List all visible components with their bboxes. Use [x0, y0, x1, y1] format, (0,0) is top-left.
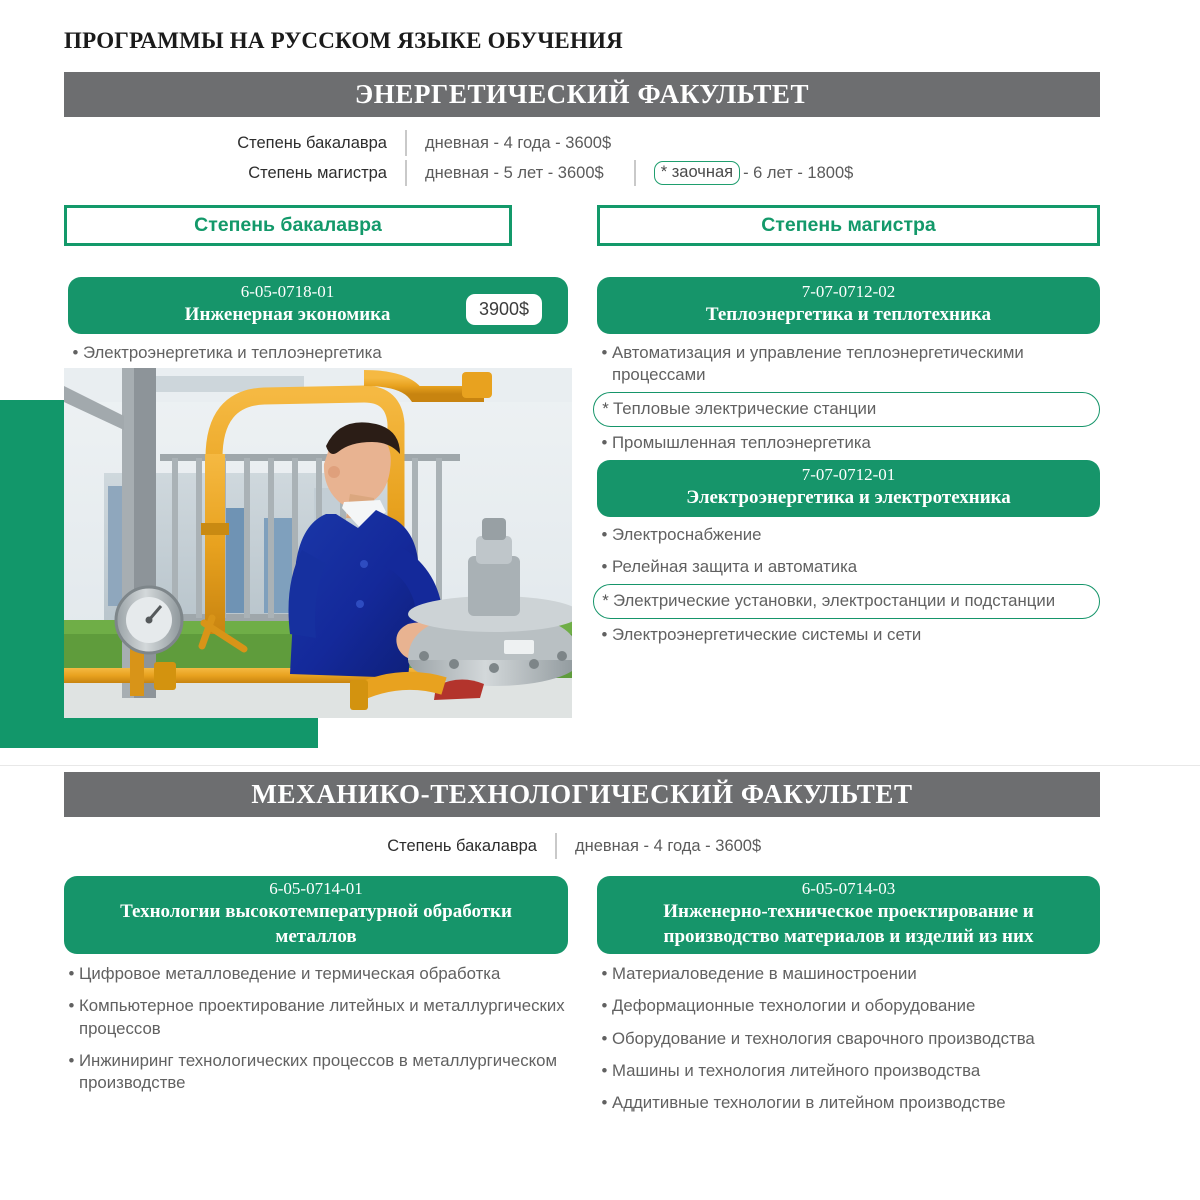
- list-item: • Материаловедение в машиностроении: [597, 958, 1100, 990]
- section-divider: [0, 765, 1200, 766]
- list-item: • Инжиниринг технологических процессов в…: [64, 1045, 584, 1100]
- bullet-icon: •: [597, 995, 612, 1017]
- degree-info-value: дневная - 4 года - 3600$: [407, 134, 611, 153]
- bullet-icon: •: [597, 556, 612, 578]
- program-specialization-list: • Электроэнергетика и теплоэнергетика: [68, 337, 573, 369]
- bullet-icon: •: [597, 1060, 612, 1082]
- list-item: • Автоматизация и управление теплоэнерге…: [597, 337, 1100, 392]
- list-item-label: Аддитивные технологии в литейном произво…: [612, 1092, 1100, 1114]
- bullet-icon: •: [597, 624, 612, 646]
- faculty-banner-mech-label: МЕХАНИКО-ТЕХНОЛОГИЧЕСКИЙ ФАКУЛЬТЕТ: [251, 779, 912, 810]
- bullet-icon: •: [64, 995, 79, 1017]
- program-price-badge: 3900$: [466, 294, 542, 325]
- program-card[interactable]: 6-05-0714-03 Инженерно-техническое проек…: [597, 876, 1100, 954]
- list-item: • Компьютерное проектирование литейных и…: [64, 990, 584, 1045]
- asterisk-icon: *: [598, 398, 613, 420]
- program-code: 6-05-0714-01: [78, 878, 554, 900]
- list-item: • Электроснабжение: [597, 519, 1100, 551]
- degree-info-value: дневная - 5 лет - 3600$: [407, 164, 604, 183]
- faculty-banner-energy: ЭНЕРГЕТИЧЕСКИЙ ФАКУЛЬТЕТ: [64, 72, 1100, 117]
- list-item-label: Промышленная теплоэнергетика: [612, 432, 1100, 454]
- program-code: 6-05-0714-03: [611, 878, 1086, 900]
- list-item-label: Цифровое металловедение и термическая об…: [79, 963, 584, 985]
- list-item: • Оборудование и технология сварочного п…: [597, 1023, 1100, 1055]
- list-item-label: Электроснабжение: [612, 524, 1100, 546]
- list-item-label: Релейная защита и автоматика: [612, 556, 1100, 578]
- degree-info-energy: Степень бакалавра дневная - 4 года - 360…: [205, 128, 853, 188]
- program-name: Теплоэнергетика и теплотехника: [611, 303, 1086, 328]
- degree-info-label: Степень бакалавра: [355, 837, 555, 856]
- program-specialization-list: • Цифровое металловедение и термическая …: [64, 958, 584, 1100]
- list-item: • Промышленная теплоэнергетика: [597, 427, 1100, 459]
- program-specialization-list: • Автоматизация и управление теплоэнерге…: [597, 337, 1100, 459]
- bullet-icon: •: [597, 963, 612, 985]
- asterisk-icon: *: [598, 590, 613, 612]
- degree-info-row: Степень магистра дневная - 5 лет - 3600$…: [205, 158, 853, 188]
- column-header-master-label: Степень магистра: [761, 214, 936, 237]
- list-item-label: Электрические установки, электростанции …: [613, 590, 1089, 612]
- list-item-label: Деформационные технологии и оборудование: [612, 995, 1100, 1017]
- degree-info-value: дневная - 4 года - 3600$: [557, 837, 761, 856]
- list-item: • Электроэнергетика и теплоэнергетика: [68, 337, 573, 369]
- program-card[interactable]: 7-07-0712-02 Теплоэнергетика и теплотехн…: [597, 277, 1100, 334]
- program-name: Технологии высокотемпературной обработки…: [78, 900, 554, 949]
- correspondence-mark-badge: * заочная: [654, 161, 740, 185]
- faculty-photo: [64, 368, 572, 718]
- list-item-label: Электроэнергетика и теплоэнергетика: [83, 342, 573, 364]
- degree-info-extra-rest: - 6 лет - 1800$: [740, 164, 853, 183]
- bullet-icon: •: [64, 1050, 79, 1072]
- faculty-banner-mech: МЕХАНИКО-ТЕХНОЛОГИЧЕСКИЙ ФАКУЛЬТЕТ: [64, 772, 1100, 817]
- column-header-bachelor[interactable]: Степень бакалавра: [64, 205, 512, 246]
- list-item: • Цифровое металловедение и термическая …: [64, 958, 584, 990]
- bullet-icon: •: [597, 524, 612, 546]
- list-item: • Релейная защита и автоматика: [597, 551, 1100, 583]
- program-specialization-list: • Материаловедение в машиностроении • Де…: [597, 958, 1100, 1120]
- program-name: Инженерно-техническое проектирование и п…: [611, 900, 1086, 949]
- column-header-bachelor-label: Степень бакалавра: [194, 214, 382, 237]
- photo-illustration: [64, 368, 572, 718]
- degree-info-label: Степень бакалавра: [205, 134, 405, 153]
- program-name: Электроэнергетика и электротехника: [611, 486, 1086, 511]
- list-item: • Машины и технология литейного производ…: [597, 1055, 1100, 1087]
- list-item-label: Компьютерное проектирование литейных и м…: [79, 995, 584, 1040]
- program-code: 7-07-0712-02: [611, 281, 1086, 303]
- program-name: Инженерная экономика: [82, 303, 493, 328]
- list-item-label: Инжиниринг технологических процессов в м…: [79, 1050, 584, 1095]
- list-item-label: Автоматизация и управление теплоэнергети…: [612, 342, 1100, 387]
- program-card[interactable]: 6-05-0714-01 Технологии высокотемператур…: [64, 876, 568, 954]
- list-item: • Аддитивные технологии в литейном произ…: [597, 1087, 1100, 1119]
- program-specialization-list: • Электроснабжение • Релейная защита и а…: [597, 519, 1100, 651]
- list-item-label: Материаловедение в машиностроении: [612, 963, 1100, 985]
- list-item-highlighted: * Электрические установки, электростанци…: [593, 584, 1100, 619]
- program-code: 7-07-0712-01: [611, 464, 1086, 486]
- bullet-icon: •: [64, 963, 79, 985]
- bullet-icon: •: [68, 342, 83, 364]
- degree-info-mech: Степень бакалавра дневная - 4 года - 360…: [355, 831, 761, 861]
- degree-info-label: Степень магистра: [205, 164, 405, 183]
- bullet-icon: •: [597, 432, 612, 454]
- degree-info-extra: * заочная - 6 лет - 1800$: [636, 161, 854, 185]
- list-item-label: Электроэнергетические системы и сети: [612, 624, 1100, 646]
- bullet-icon: •: [597, 1092, 612, 1114]
- list-item-highlighted: * Тепловые электрические станции: [593, 392, 1100, 427]
- program-card[interactable]: 7-07-0712-01 Электроэнергетика и электро…: [597, 460, 1100, 517]
- degree-info-row: Степень бакалавра дневная - 4 года - 360…: [205, 128, 853, 158]
- page-title: ПРОГРАММЫ НА РУССКОМ ЯЗЫКЕ ОБУЧЕНИЯ: [64, 28, 623, 54]
- list-item: • Электроэнергетические системы и сети: [597, 619, 1100, 651]
- bullet-icon: •: [597, 1028, 612, 1050]
- list-item-label: Тепловые электрические станции: [613, 398, 1089, 420]
- column-header-master[interactable]: Степень магистра: [597, 205, 1100, 246]
- degree-info-row: Степень бакалавра дневная - 4 года - 360…: [355, 831, 761, 861]
- faculty-banner-energy-label: ЭНЕРГЕТИЧЕСКИЙ ФАКУЛЬТЕТ: [355, 79, 809, 110]
- program-code: 6-05-0718-01: [82, 281, 493, 303]
- list-item-label: Машины и технология литейного производст…: [612, 1060, 1100, 1082]
- poster-page: ПРОГРАММЫ НА РУССКОМ ЯЗЫКЕ ОБУЧЕНИЯ ЭНЕР…: [0, 0, 1200, 1200]
- list-item-label: Оборудование и технология сварочного про…: [612, 1028, 1100, 1050]
- list-item: • Деформационные технологии и оборудован…: [597, 990, 1100, 1022]
- bullet-icon: •: [597, 342, 612, 364]
